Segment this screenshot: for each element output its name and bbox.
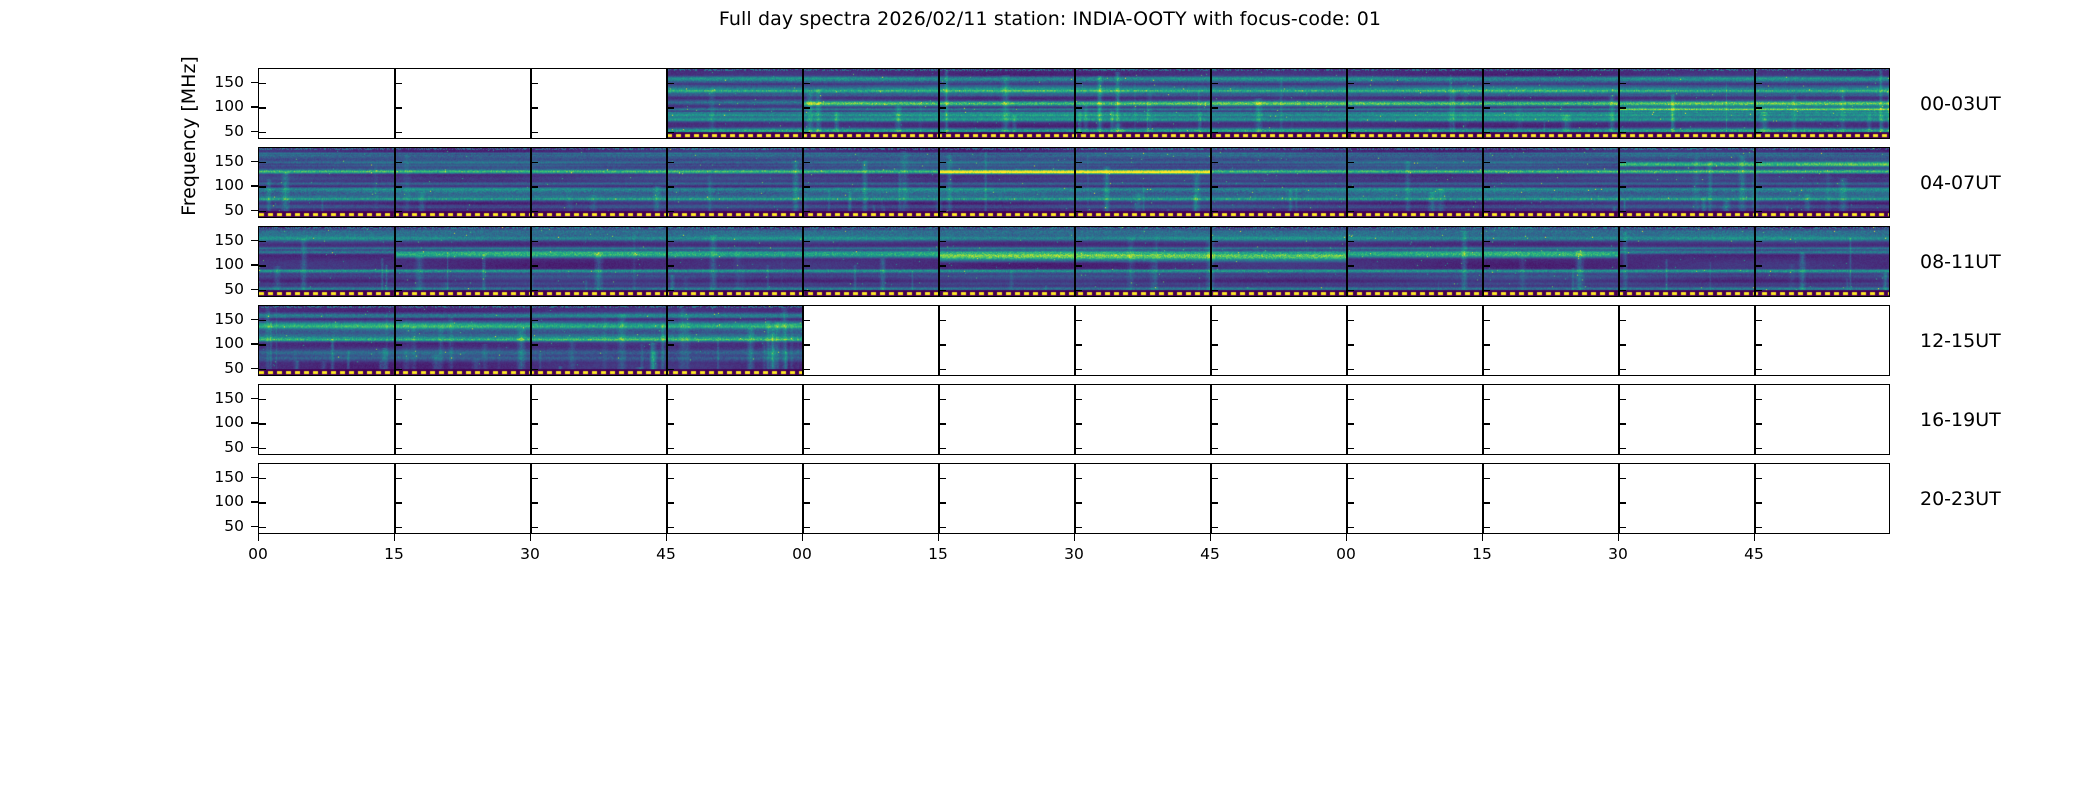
y-tick-inner [803, 344, 810, 345]
y-tick-inner [1483, 290, 1490, 291]
y-tick-inner [531, 241, 538, 242]
y-tick-inner [1619, 369, 1626, 370]
x-tick-mark [1754, 534, 1755, 541]
y-tick-inner [939, 241, 946, 242]
y-tick-inner [395, 478, 402, 479]
row-label-04-07ut: 04-07UT [1920, 172, 2001, 194]
y-tick-inner [803, 423, 810, 424]
y-tick-inner [1347, 241, 1354, 242]
y-tick-mark [251, 131, 258, 132]
panel-separator [802, 385, 803, 454]
y-tick-mark [251, 343, 258, 344]
y-tick-inner [1619, 107, 1626, 108]
y-tick-inner [1075, 162, 1082, 163]
y-tick-inner [939, 478, 946, 479]
y-tick-inner [1755, 83, 1762, 84]
y-tick-inner [395, 132, 402, 133]
y-tick-label: 50 [196, 517, 244, 535]
y-tick-inner [803, 399, 810, 400]
y-tick-inner [531, 107, 538, 108]
y-tick-label: 50 [196, 280, 244, 298]
y-tick-inner [395, 369, 402, 370]
y-tick-inner [531, 344, 538, 345]
y-tick-inner [531, 527, 538, 528]
y-tick-inner [1483, 320, 1490, 321]
y-tick-mark [251, 161, 258, 162]
x-tick-mark [802, 534, 803, 541]
y-tick-mark [251, 398, 258, 399]
y-tick-inner [1755, 502, 1762, 503]
y-tick-inner [1075, 502, 1082, 503]
panel-separator [394, 306, 395, 375]
panel-separator [666, 148, 667, 217]
y-tick-mark [251, 447, 258, 448]
panel-separator [1618, 385, 1619, 454]
y-tick-inner [1483, 399, 1490, 400]
spectra-row-12-15ut[interactable] [258, 305, 1890, 376]
y-tick-inner [259, 83, 266, 84]
x-tick-label: 00 [792, 545, 812, 563]
y-tick-inner [1755, 290, 1762, 291]
y-tick-inner [395, 344, 402, 345]
y-tick-label: 100 [196, 492, 244, 510]
panel-separator [1210, 306, 1211, 375]
y-tick-inner [939, 107, 946, 108]
y-tick-inner [1347, 211, 1354, 212]
y-tick-mark [251, 82, 258, 83]
y-tick-inner [259, 369, 266, 370]
panel-separator [938, 227, 939, 296]
x-tick-mark [1210, 534, 1211, 541]
y-tick-inner [1619, 399, 1626, 400]
y-tick-label: 100 [196, 255, 244, 273]
y-tick-label: 100 [196, 334, 244, 352]
panel-separator [1482, 227, 1483, 296]
spectra-row-20-23ut[interactable] [258, 463, 1890, 534]
y-tick-inner [1347, 344, 1354, 345]
x-tick-mark [258, 534, 259, 541]
panel-separator [666, 306, 667, 375]
y-tick-inner [1483, 478, 1490, 479]
panel-separator [802, 306, 803, 375]
y-tick-inner [1755, 344, 1762, 345]
y-tick-inner [667, 478, 674, 479]
y-tick-inner [1619, 241, 1626, 242]
y-tick-inner [1075, 527, 1082, 528]
y-tick-inner [1211, 83, 1218, 84]
y-tick-inner [259, 478, 266, 479]
panel-separator [1210, 385, 1211, 454]
y-tick-label: 150 [196, 73, 244, 91]
panel-separator [1618, 464, 1619, 533]
y-tick-inner [939, 186, 946, 187]
y-tick-inner [1347, 107, 1354, 108]
y-tick-inner [1211, 132, 1218, 133]
x-tick-label: 30 [520, 545, 540, 563]
x-tick-label: 15 [928, 545, 948, 563]
y-tick-inner [531, 186, 538, 187]
panel-separator [1074, 69, 1075, 138]
y-tick-inner [1619, 290, 1626, 291]
y-tick-label: 50 [196, 201, 244, 219]
y-tick-inner [1347, 132, 1354, 133]
y-tick-inner [803, 502, 810, 503]
y-tick-inner [939, 399, 946, 400]
y-tick-inner [1755, 399, 1762, 400]
y-tick-label: 50 [196, 122, 244, 140]
y-tick-inner [667, 211, 674, 212]
panel-separator [1346, 69, 1347, 138]
y-tick-mark [251, 289, 258, 290]
y-tick-inner [803, 527, 810, 528]
y-tick-inner [667, 344, 674, 345]
row-label-16-19ut: 16-19UT [1920, 409, 2001, 431]
y-tick-mark [251, 319, 258, 320]
y-tick-inner [395, 83, 402, 84]
y-tick-inner [531, 132, 538, 133]
spectrogram-image-00-03ut [667, 69, 1890, 138]
y-tick-label: 150 [196, 468, 244, 486]
y-tick-inner [531, 320, 538, 321]
panel-separator [1074, 385, 1075, 454]
y-tick-inner [395, 162, 402, 163]
spectra-row-00-03ut[interactable] [258, 68, 1890, 139]
panel-separator [1210, 69, 1211, 138]
y-tick-inner [803, 265, 810, 266]
y-tick-label: 150 [196, 389, 244, 407]
y-tick-label: 150 [196, 310, 244, 328]
y-tick-inner [667, 423, 674, 424]
panel-separator [1482, 464, 1483, 533]
y-tick-inner [1211, 162, 1218, 163]
y-tick-inner [1483, 186, 1490, 187]
y-tick-inner [259, 211, 266, 212]
y-tick-inner [1483, 132, 1490, 133]
y-tick-inner [259, 502, 266, 503]
y-tick-inner [1755, 265, 1762, 266]
y-tick-inner [667, 320, 674, 321]
y-tick-inner [1483, 423, 1490, 424]
y-tick-inner [531, 83, 538, 84]
y-tick-inner [1755, 107, 1762, 108]
y-tick-inner [1211, 265, 1218, 266]
y-tick-mark [251, 106, 258, 107]
x-tick-mark [1346, 534, 1347, 541]
y-tick-inner [1211, 527, 1218, 528]
y-tick-inner [1075, 186, 1082, 187]
y-tick-inner [1755, 448, 1762, 449]
y-tick-inner [1347, 186, 1354, 187]
x-tick-label: 30 [1608, 545, 1628, 563]
y-tick-inner [531, 478, 538, 479]
y-tick-inner [395, 265, 402, 266]
y-tick-inner [803, 107, 810, 108]
y-tick-inner [939, 290, 946, 291]
y-tick-inner [1075, 369, 1082, 370]
y-tick-inner [667, 83, 674, 84]
x-tick-mark [666, 534, 667, 541]
y-tick-inner [1075, 448, 1082, 449]
panel-separator [1754, 69, 1755, 138]
y-tick-inner [667, 448, 674, 449]
y-tick-inner [395, 241, 402, 242]
y-tick-mark [251, 210, 258, 211]
y-tick-inner [803, 369, 810, 370]
y-tick-inner [1755, 369, 1762, 370]
spectra-row-04-07ut[interactable] [258, 147, 1890, 218]
panel-separator [1754, 385, 1755, 454]
y-tick-mark [251, 501, 258, 502]
y-tick-inner [395, 423, 402, 424]
panel-separator [802, 148, 803, 217]
x-tick-label: 45 [1200, 545, 1220, 563]
y-tick-inner [1211, 290, 1218, 291]
y-tick-inner [531, 211, 538, 212]
y-tick-inner [939, 211, 946, 212]
panel-separator [1618, 69, 1619, 138]
y-tick-inner [395, 290, 402, 291]
y-tick-inner [939, 320, 946, 321]
x-tick-label: 15 [1472, 545, 1492, 563]
y-tick-inner [259, 527, 266, 528]
spectra-row-16-19ut[interactable] [258, 384, 1890, 455]
y-tick-inner [1211, 502, 1218, 503]
y-tick-inner [1211, 241, 1218, 242]
y-tick-inner [1755, 162, 1762, 163]
x-tick-label: 45 [656, 545, 676, 563]
x-tick-mark [1618, 534, 1619, 541]
y-tick-inner [1619, 83, 1626, 84]
y-tick-inner [667, 290, 674, 291]
y-tick-inner [259, 241, 266, 242]
panel-separator [530, 227, 531, 296]
y-tick-inner [1211, 448, 1218, 449]
y-tick-inner [1211, 320, 1218, 321]
y-tick-label: 100 [196, 176, 244, 194]
y-tick-inner [1619, 527, 1626, 528]
y-tick-inner [1347, 502, 1354, 503]
y-tick-inner [1755, 423, 1762, 424]
y-tick-inner [1619, 132, 1626, 133]
y-tick-inner [1755, 132, 1762, 133]
y-tick-inner [1075, 290, 1082, 291]
y-tick-inner [1075, 83, 1082, 84]
y-tick-inner [803, 478, 810, 479]
y-tick-inner [1619, 478, 1626, 479]
y-tick-inner [1075, 320, 1082, 321]
y-tick-inner [395, 186, 402, 187]
y-tick-inner [531, 290, 538, 291]
y-tick-inner [1347, 478, 1354, 479]
panel-separator [802, 69, 803, 138]
y-tick-inner [803, 83, 810, 84]
panel-separator [802, 227, 803, 296]
panel-separator [938, 148, 939, 217]
y-tick-inner [531, 162, 538, 163]
panel-separator [1074, 148, 1075, 217]
panel-separator [530, 464, 531, 533]
y-tick-inner [939, 344, 946, 345]
y-tick-inner [1755, 186, 1762, 187]
y-tick-inner [1483, 107, 1490, 108]
y-tick-inner [1619, 344, 1626, 345]
y-tick-inner [803, 132, 810, 133]
panel-separator [530, 306, 531, 375]
y-tick-inner [531, 265, 538, 266]
y-tick-inner [1075, 265, 1082, 266]
panel-separator [1482, 148, 1483, 217]
panel-separator [1074, 464, 1075, 533]
y-tick-inner [939, 369, 946, 370]
y-tick-inner [1075, 241, 1082, 242]
y-tick-inner [667, 399, 674, 400]
y-tick-inner [939, 502, 946, 503]
y-tick-inner [1483, 369, 1490, 370]
panel-separator [1346, 227, 1347, 296]
y-tick-inner [1347, 527, 1354, 528]
spectrogram-figure: Full day spectra 2026/02/11 station: IND… [0, 0, 2100, 800]
y-tick-inner [667, 241, 674, 242]
y-tick-label: 100 [196, 413, 244, 431]
y-tick-inner [395, 107, 402, 108]
panel-separator [530, 385, 531, 454]
y-tick-inner [939, 83, 946, 84]
y-tick-inner [1483, 527, 1490, 528]
y-tick-inner [1211, 344, 1218, 345]
y-tick-inner [1619, 265, 1626, 266]
x-tick-mark [1074, 534, 1075, 541]
y-tick-inner [1347, 423, 1354, 424]
y-tick-inner [1619, 211, 1626, 212]
y-tick-inner [803, 290, 810, 291]
panel-separator [1210, 148, 1211, 217]
y-tick-inner [395, 211, 402, 212]
panel-separator [1074, 227, 1075, 296]
y-tick-inner [1483, 83, 1490, 84]
y-tick-inner [1755, 320, 1762, 321]
row-label-08-11ut: 08-11UT [1920, 251, 2001, 273]
y-tick-inner [1619, 320, 1626, 321]
y-tick-inner [1075, 132, 1082, 133]
y-tick-inner [1483, 211, 1490, 212]
y-tick-inner [1211, 478, 1218, 479]
y-tick-inner [1211, 369, 1218, 370]
y-tick-inner [259, 186, 266, 187]
y-tick-inner [395, 399, 402, 400]
panel-separator [1618, 148, 1619, 217]
panel-separator [1482, 69, 1483, 138]
panel-separator [938, 385, 939, 454]
panel-separator [1346, 306, 1347, 375]
y-tick-inner [939, 423, 946, 424]
y-tick-inner [259, 107, 266, 108]
y-tick-inner [1483, 448, 1490, 449]
y-tick-inner [1347, 83, 1354, 84]
x-tick-mark [530, 534, 531, 541]
y-tick-inner [1211, 107, 1218, 108]
y-tick-inner [1211, 423, 1218, 424]
panel-separator [666, 464, 667, 533]
panel-separator [1754, 227, 1755, 296]
y-tick-mark [251, 185, 258, 186]
x-tick-label: 00 [1336, 545, 1356, 563]
y-tick-inner [259, 423, 266, 424]
panel-separator [938, 306, 939, 375]
y-tick-inner [667, 162, 674, 163]
y-tick-inner [1347, 265, 1354, 266]
y-tick-inner [1755, 527, 1762, 528]
y-tick-mark [251, 240, 258, 241]
panel-separator [394, 385, 395, 454]
y-tick-mark [251, 368, 258, 369]
y-tick-inner [1347, 399, 1354, 400]
panel-separator [1074, 306, 1075, 375]
y-tick-inner [531, 448, 538, 449]
panel-separator [1346, 464, 1347, 533]
row-label-20-23ut: 20-23UT [1920, 488, 2001, 510]
y-tick-inner [803, 186, 810, 187]
y-tick-inner [803, 448, 810, 449]
y-tick-inner [939, 527, 946, 528]
y-tick-inner [1075, 423, 1082, 424]
y-tick-inner [803, 211, 810, 212]
y-tick-mark [251, 422, 258, 423]
spectra-row-08-11ut[interactable] [258, 226, 1890, 297]
y-tick-inner [395, 502, 402, 503]
y-tick-inner [803, 320, 810, 321]
y-tick-inner [1619, 186, 1626, 187]
y-tick-inner [259, 132, 266, 133]
y-tick-inner [667, 369, 674, 370]
y-tick-inner [259, 162, 266, 163]
y-tick-inner [939, 132, 946, 133]
y-tick-inner [1347, 320, 1354, 321]
x-tick-label: 00 [248, 545, 268, 563]
y-tick-inner [395, 448, 402, 449]
panel-separator [394, 148, 395, 217]
y-tick-label: 50 [196, 359, 244, 377]
panel-separator [938, 464, 939, 533]
y-tick-label: 150 [196, 231, 244, 249]
y-tick-label: 50 [196, 438, 244, 456]
panel-separator [1754, 306, 1755, 375]
y-tick-inner [1483, 344, 1490, 345]
y-tick-inner [1075, 399, 1082, 400]
panel-separator [1346, 148, 1347, 217]
y-tick-inner [531, 369, 538, 370]
y-tick-inner [259, 265, 266, 266]
y-tick-inner [1483, 502, 1490, 503]
y-tick-inner [939, 265, 946, 266]
y-tick-inner [531, 399, 538, 400]
y-tick-inner [803, 241, 810, 242]
panel-separator [666, 385, 667, 454]
row-label-12-15ut: 12-15UT [1920, 330, 2001, 352]
y-tick-inner [259, 399, 266, 400]
x-tick-mark [394, 534, 395, 541]
y-tick-inner [259, 448, 266, 449]
y-tick-inner [1075, 478, 1082, 479]
y-tick-label: 100 [196, 97, 244, 115]
y-tick-inner [395, 527, 402, 528]
y-tick-inner [1347, 290, 1354, 291]
y-tick-inner [395, 320, 402, 321]
y-tick-inner [1483, 241, 1490, 242]
x-tick-mark [1482, 534, 1483, 541]
y-tick-inner [803, 162, 810, 163]
x-tick-label: 45 [1744, 545, 1764, 563]
y-tick-inner [1211, 211, 1218, 212]
